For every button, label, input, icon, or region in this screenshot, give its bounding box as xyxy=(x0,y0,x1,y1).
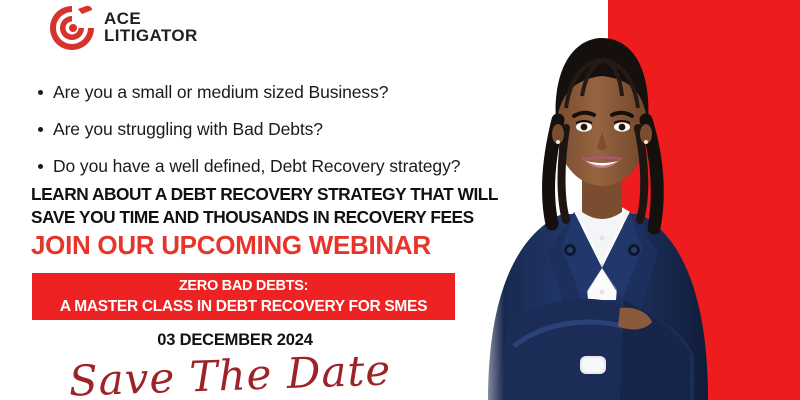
brand-name-line1: ACE xyxy=(104,10,198,27)
list-item: Are you a small or medium sized Business… xyxy=(36,82,506,102)
headline-line-2: SAVE YOU TIME AND THOUSANDS IN RECOVERY … xyxy=(31,206,511,229)
list-item: Do you have a well defined, Debt Recover… xyxy=(36,156,506,176)
brand-name-line2: LITIGATOR xyxy=(104,27,198,44)
question-list: Are you a small or medium sized Business… xyxy=(36,82,506,193)
join-webinar-title: JOIN OUR UPCOMING WEBINAR xyxy=(31,230,431,260)
list-item: Are you struggling with Bad Debts? xyxy=(36,119,506,139)
brand-logo: ACE LITIGATOR xyxy=(48,4,198,50)
brand-wordmark: ACE LITIGATOR xyxy=(104,10,198,44)
webinar-flyer: ACE LITIGATOR Are you a small or medium … xyxy=(0,0,800,400)
headline-block: LEARN ABOUT A DEBT RECOVERY STRATEGY THA… xyxy=(31,183,511,229)
webinar-title-banner: ZERO BAD DEBTS: A MASTER CLASS IN DEBT R… xyxy=(32,273,455,320)
banner-line-2: A MASTER CLASS IN DEBT RECOVERY FOR SMES xyxy=(60,296,427,317)
spiral-target-icon xyxy=(48,4,96,50)
save-the-date-script: Save The Date xyxy=(0,344,461,400)
banner-line-1: ZERO BAD DEBTS: xyxy=(179,277,308,296)
headline-line-1: LEARN ABOUT A DEBT RECOVERY STRATEGY THA… xyxy=(31,183,511,206)
